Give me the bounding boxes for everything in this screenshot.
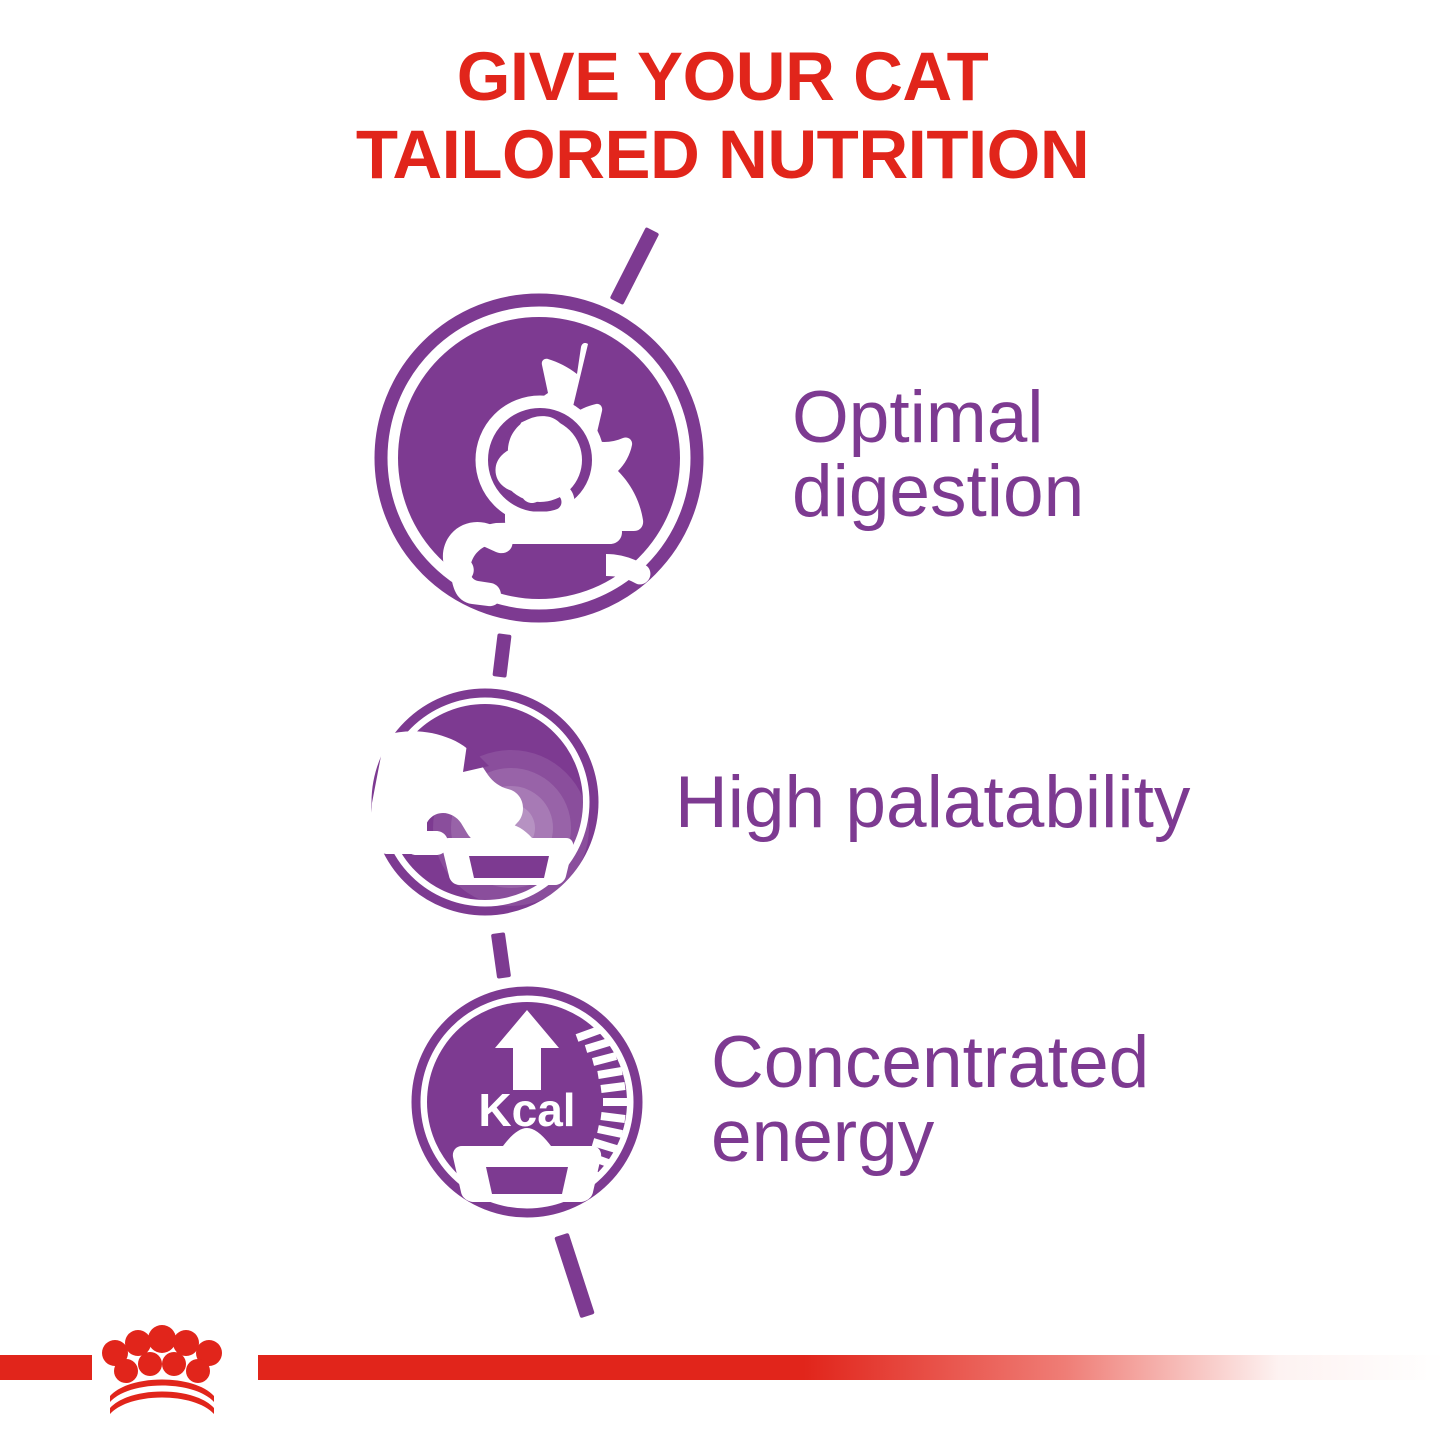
feature-label-high-palatability: High palatability <box>675 766 1190 840</box>
cat-digestion-icon <box>374 293 704 623</box>
dashed-connector-2-3 <box>491 932 511 979</box>
royal-canin-crown-logo <box>98 1324 226 1424</box>
feature-item-concentrated-energy: Kcal Concentrated energy <box>411 986 1149 1218</box>
feature-label-optimal-digestion: Optimal digestion <box>792 381 1084 530</box>
kcal-energy-icon: Kcal <box>411 986 643 1218</box>
poster-canvas: GIVE YOUR CAT TAILORED NUTRITION <box>0 0 1445 1445</box>
brand-bar-left <box>0 1355 92 1380</box>
cat-eating-bowl-icon <box>371 688 599 916</box>
feature-item-optimal-digestion: Optimal digestion <box>374 293 1084 623</box>
feature-label-concentrated-energy: Concentrated energy <box>711 1026 1149 1175</box>
feature-item-high-palatability: High palatability <box>371 688 1190 916</box>
dashed-connector-bottom <box>554 1233 595 1318</box>
brand-bar-right <box>258 1355 1445 1380</box>
brand-footer <box>0 1310 1445 1445</box>
page-title: GIVE YOUR CAT TAILORED NUTRITION <box>0 38 1445 194</box>
dashed-connector-1-2 <box>492 633 511 677</box>
